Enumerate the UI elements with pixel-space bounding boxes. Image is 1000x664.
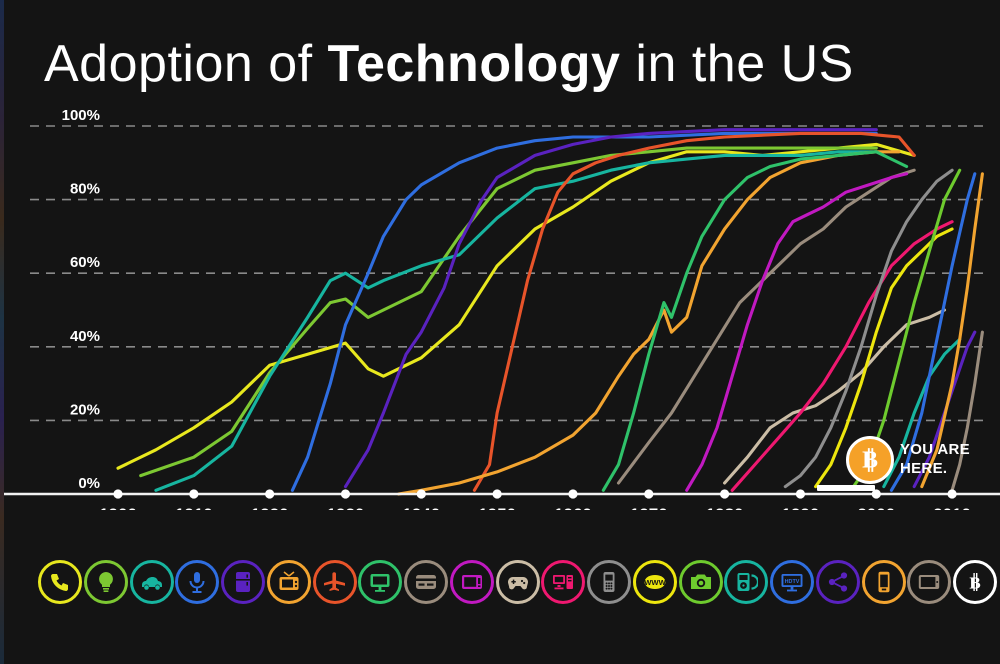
x-tick-dot: [947, 489, 956, 498]
y-axis-labels: 0%20%40%60%80%100%: [62, 110, 100, 492]
x-tick-dot: [113, 489, 122, 498]
series-line-lightbulb: [141, 148, 877, 476]
lightbulb-icon: [94, 570, 118, 594]
x-tick-dot: [644, 489, 653, 498]
title-emphasis: Technology: [328, 35, 621, 93]
svg-text:B: B: [862, 448, 878, 474]
refrigerator-icon: [231, 570, 255, 594]
x-tick-label: 2000: [857, 505, 895, 510]
legend-lightbulb-icon[interactable]: [84, 560, 128, 604]
mp3-icon: [734, 570, 758, 594]
y-tick-label: 100%: [62, 110, 100, 124]
radio-icon: [185, 570, 209, 594]
y-tick-label: 20%: [70, 401, 100, 418]
legend-hdtv-icon[interactable]: HDTV: [770, 560, 814, 604]
legend-colortv-icon[interactable]: [358, 560, 402, 604]
legend-bitcoin-icon[interactable]: B: [953, 560, 997, 604]
telephone-icon: [48, 570, 72, 594]
x-tick-label: 1960: [554, 505, 592, 510]
x-tick-label: 2010: [933, 505, 971, 510]
technology-icon-legend: WWWHDTVB: [0, 556, 1000, 616]
legend-microwave-icon[interactable]: [450, 560, 494, 604]
cellphone-icon: [597, 570, 621, 594]
svg-text:WWW: WWW: [644, 578, 666, 587]
current-year-marker: [817, 485, 875, 491]
legend-radio-icon[interactable]: [175, 560, 219, 604]
smartphone-icon: [872, 570, 896, 594]
x-tick-label: 1980: [706, 505, 744, 510]
x-tick-dot: [265, 489, 274, 498]
colortv-icon: [368, 570, 392, 594]
legend-automobile-icon[interactable]: [130, 560, 174, 604]
x-tick-label: 1940: [402, 505, 440, 510]
x-tick-dot: [417, 489, 426, 498]
x-tick-label: 1950: [478, 505, 516, 510]
share-icon: [826, 570, 850, 594]
x-tick-dot: [189, 489, 198, 498]
airplane-icon: [323, 570, 347, 594]
legend-computer-icon[interactable]: [541, 560, 585, 604]
title-prefix: Adoption of: [44, 35, 328, 93]
x-tick-dot: [568, 489, 577, 498]
www-icon: WWW: [643, 570, 667, 594]
gamepad-icon: [506, 570, 530, 594]
microwave-icon: [460, 570, 484, 594]
x-tick-label: 1900: [99, 505, 137, 510]
bitcoin-icon: B: [963, 570, 987, 594]
y-tick-label: 0%: [78, 475, 100, 492]
x-tick-dot: [796, 489, 805, 498]
bitcoin-icon: B: [855, 445, 885, 475]
bitcoin-badge: B: [846, 436, 894, 484]
legend-refrigerator-icon[interactable]: [221, 560, 265, 604]
camera-icon: [689, 570, 713, 594]
legend-camera-icon[interactable]: [679, 560, 723, 604]
page-title: Adoption of Technology in the US: [44, 34, 854, 94]
y-tick-label: 80%: [70, 181, 100, 198]
x-tick-label: 1920: [251, 505, 289, 510]
legend-share-icon[interactable]: [816, 560, 860, 604]
legend-smartphone-icon[interactable]: [862, 560, 906, 604]
legend-tablet-icon[interactable]: [907, 560, 951, 604]
you-are-here-line2: HERE.: [900, 460, 970, 479]
you-are-here-line1: YOU ARE: [900, 441, 970, 460]
legend-cellphone-icon[interactable]: [587, 560, 631, 604]
series-line-automobile: [156, 152, 876, 491]
legend-telephone-icon[interactable]: [38, 560, 82, 604]
infographic-page: Adoption of Technology in the US 0%20%40…: [0, 0, 1000, 664]
legend-television-icon[interactable]: [267, 560, 311, 604]
automobile-icon: [140, 570, 164, 594]
x-axis-labels: 1900191019201930194019501960197019801990…: [99, 505, 971, 510]
you-are-here-label: YOU ARE HERE.: [900, 441, 970, 479]
x-tick-dot: [493, 489, 502, 498]
x-tick-dot: [341, 489, 350, 498]
x-tick-label: 1990: [782, 505, 820, 510]
y-tick-label: 60%: [70, 254, 100, 271]
legend-creditcard-icon[interactable]: [404, 560, 448, 604]
legend-www-icon[interactable]: WWW: [633, 560, 677, 604]
television-icon: [277, 570, 301, 594]
tablet-icon: [917, 570, 941, 594]
x-tick-label: 1970: [630, 505, 668, 510]
x-tick-label: 1910: [175, 505, 213, 510]
legend-mp3-icon[interactable]: [724, 560, 768, 604]
legend-airplane-icon[interactable]: [313, 560, 357, 604]
computer-icon: [551, 570, 575, 594]
legend-gamepad-icon[interactable]: [496, 560, 540, 604]
title-suffix: in the US: [620, 35, 853, 93]
y-tick-label: 40%: [70, 328, 100, 345]
x-tick-dot: [720, 489, 729, 498]
svg-text:HDTV: HDTV: [785, 579, 800, 585]
svg-text:B: B: [969, 573, 980, 592]
x-tick-label: 1930: [327, 505, 365, 510]
creditcard-icon: [414, 570, 438, 594]
series-lines: [118, 130, 982, 494]
hdtv-icon: HDTV: [780, 570, 804, 594]
